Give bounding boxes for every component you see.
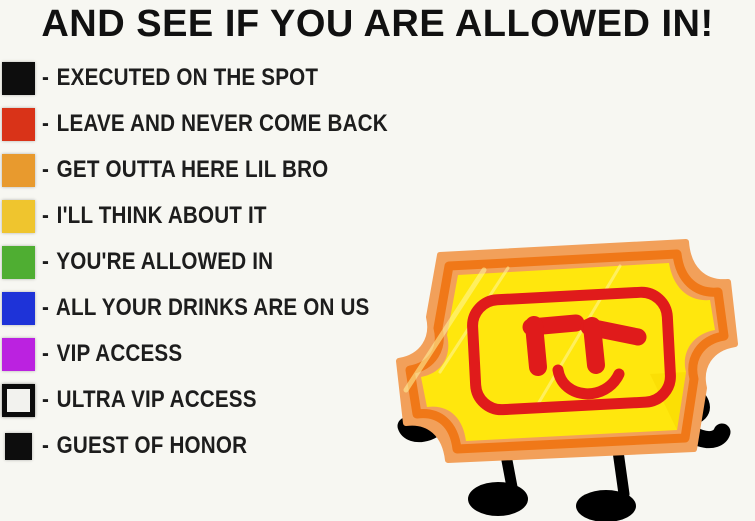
legend-dash: - <box>42 295 49 321</box>
legend-color-swatch <box>2 200 35 233</box>
legend-dash: - <box>42 387 49 413</box>
legend-dash: - <box>42 249 49 275</box>
swatch-wrap <box>0 433 42 460</box>
legend-color-swatch <box>2 384 35 417</box>
swatch-wrap <box>0 384 42 417</box>
list-item: - EXECUTED ON THE SPOT <box>0 55 420 101</box>
list-item-label: - LEAVE AND NEVER COME BACK <box>42 111 388 137</box>
legend-list: - EXECUTED ON THE SPOT - LEAVE AND NEVER… <box>0 55 420 469</box>
legend-dash: - <box>42 433 49 459</box>
swatch-wrap <box>0 338 42 371</box>
swatch-wrap <box>0 108 42 141</box>
list-item-label: - EXECUTED ON THE SPOT <box>42 65 318 91</box>
ticket-body <box>399 242 735 460</box>
list-item-label: - YOU'RE ALLOWED IN <box>42 249 273 275</box>
swatch-wrap <box>0 200 42 233</box>
legend-text: ALL YOUR DRINKS ARE ON US <box>56 294 370 321</box>
list-item: - LEAVE AND NEVER COME BACK <box>0 101 420 147</box>
ticket-character <box>388 222 755 521</box>
legend-text: YOU'RE ALLOWED IN <box>56 248 273 275</box>
list-item: - GET OUTTA HERE LIL BRO <box>0 147 420 193</box>
swatch-wrap <box>0 292 42 325</box>
list-item: - YOU'RE ALLOWED IN <box>0 239 420 285</box>
legend-color-swatch <box>2 246 35 279</box>
legend-text: GUEST OF HONOR <box>57 432 247 459</box>
legend-dash: - <box>42 341 49 367</box>
list-item: - ULTRA VIP ACCESS <box>0 377 420 423</box>
legend-color-swatch <box>2 154 35 187</box>
legend-color-swatch <box>2 62 35 95</box>
legend-text: EXECUTED ON THE SPOT <box>57 64 318 91</box>
list-item-label: - ULTRA VIP ACCESS <box>42 387 257 413</box>
list-item-label: - VIP ACCESS <box>42 341 182 367</box>
legend-text: GET OUTTA HERE LIL BRO <box>57 156 329 183</box>
legend-color-swatch <box>5 433 32 460</box>
legend-dash: - <box>42 157 49 183</box>
legend-color-swatch <box>2 108 35 141</box>
legend-dash: - <box>42 65 49 91</box>
list-item: - ALL YOUR DRINKS ARE ON US <box>0 285 420 331</box>
legend-color-swatch <box>2 338 35 371</box>
swatch-wrap <box>0 154 42 187</box>
legend-text: LEAVE AND NEVER COME BACK <box>57 110 388 137</box>
list-item: - GUEST OF HONOR <box>0 423 420 469</box>
legend-text: ULTRA VIP ACCESS <box>57 386 257 413</box>
legend-text: VIP ACCESS <box>57 340 183 367</box>
legend-text: I'LL THINK ABOUT IT <box>57 202 267 229</box>
page-title: AND SEE IF YOU ARE ALLOWED IN! <box>0 2 755 46</box>
list-item-label: - I'LL THINK ABOUT IT <box>42 203 267 229</box>
legend-dash: - <box>42 111 49 137</box>
list-item: - VIP ACCESS <box>0 331 420 377</box>
meme-canvas: AND SEE IF YOU ARE ALLOWED IN! - EXECUTE… <box>0 0 755 521</box>
swatch-wrap <box>0 62 42 95</box>
list-item: - I'LL THINK ABOUT IT <box>0 193 420 239</box>
swatch-wrap <box>0 246 42 279</box>
legend-dash: - <box>42 203 49 229</box>
list-item-label: - GUEST OF HONOR <box>42 433 247 459</box>
legend-color-swatch <box>2 292 35 325</box>
list-item-label: - ALL YOUR DRINKS ARE ON US <box>42 295 369 321</box>
list-item-label: - GET OUTTA HERE LIL BRO <box>42 157 328 183</box>
